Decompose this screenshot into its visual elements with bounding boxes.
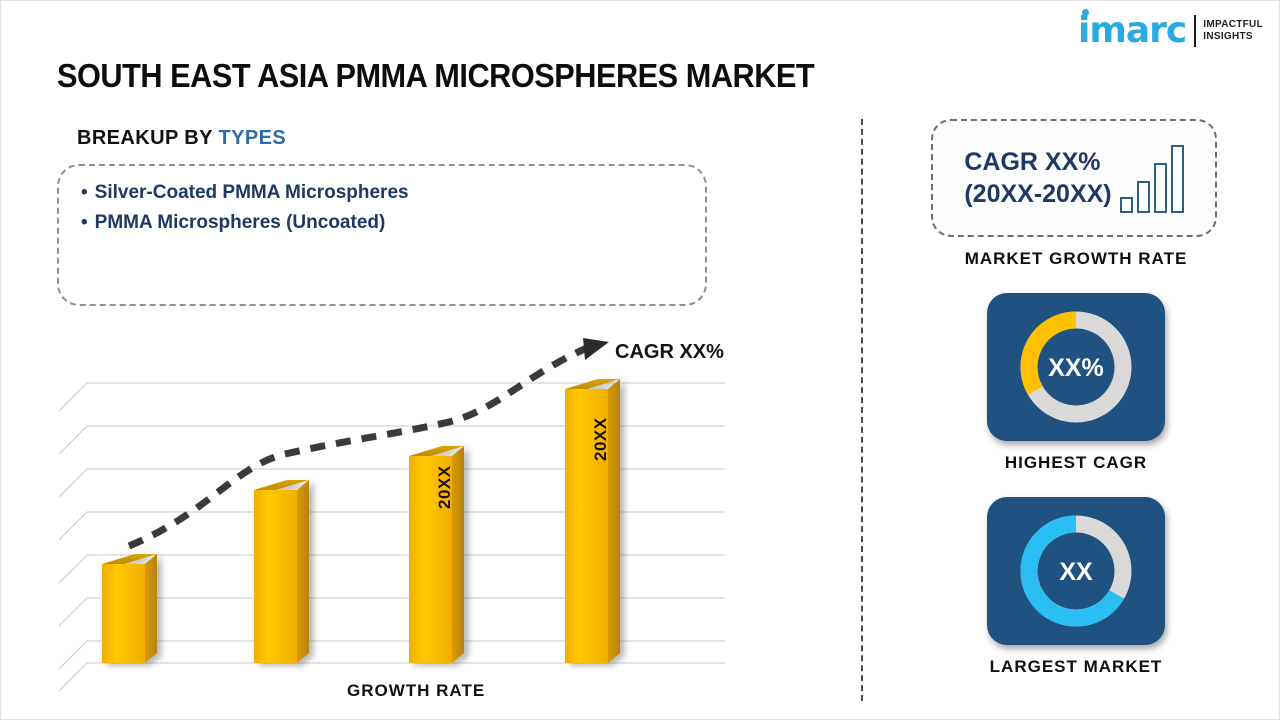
market-growth-rate-box: CAGR XX% (20XX-20XX) bbox=[931, 119, 1217, 237]
chart-svg bbox=[57, 326, 757, 706]
highest-cagr-tile: XX% bbox=[987, 293, 1165, 441]
trend-arrow-head-icon bbox=[583, 338, 609, 360]
list-item: PMMA Microspheres (Uncoated) bbox=[81, 208, 683, 238]
bar-caption: 20XX bbox=[591, 417, 611, 461]
chart-bar bbox=[102, 554, 157, 663]
largest-market-caption: LARGEST MARKET bbox=[931, 657, 1221, 677]
types-list: Silver-Coated PMMA Microspheres PMMA Mic… bbox=[81, 178, 683, 238]
cagr-trend-label: CAGR XX% bbox=[615, 341, 724, 364]
logo-wordmark-text: imarc bbox=[1078, 10, 1186, 51]
bar-caption: 20XX bbox=[435, 465, 455, 509]
breakup-heading: BREAKUP BY TYPES bbox=[77, 127, 286, 150]
chart-trendline bbox=[129, 338, 609, 546]
chart-x-axis-label: GROWTH RATE bbox=[347, 681, 485, 701]
largest-market-value: XX bbox=[1059, 558, 1093, 586]
market-growth-rate-caption: MARKET GROWTH RATE bbox=[931, 249, 1221, 269]
cagr-value: CAGR XX% bbox=[964, 146, 1111, 178]
breakup-heading-prefix: BREAKUP BY bbox=[77, 127, 218, 149]
column-divider bbox=[861, 119, 863, 701]
logo-tagline: IMPACTFUL INSIGHTS bbox=[1203, 19, 1263, 43]
stats-column: CAGR XX% (20XX-20XX) MARKET GROWTH RATE … bbox=[931, 119, 1221, 677]
types-box: Silver-Coated PMMA Microspheres PMMA Mic… bbox=[57, 164, 707, 306]
list-item: Silver-Coated PMMA Microspheres bbox=[81, 178, 683, 208]
infographic-page: imarc IMPACTFUL INSIGHTS SOUTH EAST ASIA… bbox=[0, 0, 1280, 720]
page-title: SOUTH EAST ASIA PMMA MICROSPHERES MARKET bbox=[57, 57, 814, 95]
chart-bar bbox=[254, 480, 309, 663]
cagr-text: CAGR XX% (20XX-20XX) bbox=[964, 146, 1111, 210]
logo-wordmark: imarc bbox=[1078, 13, 1192, 49]
logo-tagline-line2: INSIGHTS bbox=[1203, 31, 1263, 43]
growth-rate-chart: 20XX 20XX CAGR XX% GROWTH RATE bbox=[57, 326, 757, 706]
chart-gridlines bbox=[59, 383, 725, 691]
logo-tagline-line1: IMPACTFUL bbox=[1203, 19, 1263, 31]
highest-cagr-value: XX% bbox=[1048, 354, 1104, 382]
bar-chart-icon bbox=[1120, 143, 1184, 213]
highest-cagr-donut-chart: XX% bbox=[1012, 303, 1140, 431]
highest-cagr-caption: HIGHEST CAGR bbox=[931, 453, 1221, 473]
largest-market-tile: XX bbox=[987, 497, 1165, 645]
cagr-period: (20XX-20XX) bbox=[964, 178, 1111, 210]
breakup-heading-accent: TYPES bbox=[218, 127, 286, 149]
largest-market-donut-chart: XX bbox=[1012, 507, 1140, 635]
imarc-logo: imarc IMPACTFUL INSIGHTS bbox=[1078, 9, 1263, 53]
logo-divider bbox=[1194, 15, 1196, 47]
logo-dot-icon bbox=[1082, 9, 1089, 16]
